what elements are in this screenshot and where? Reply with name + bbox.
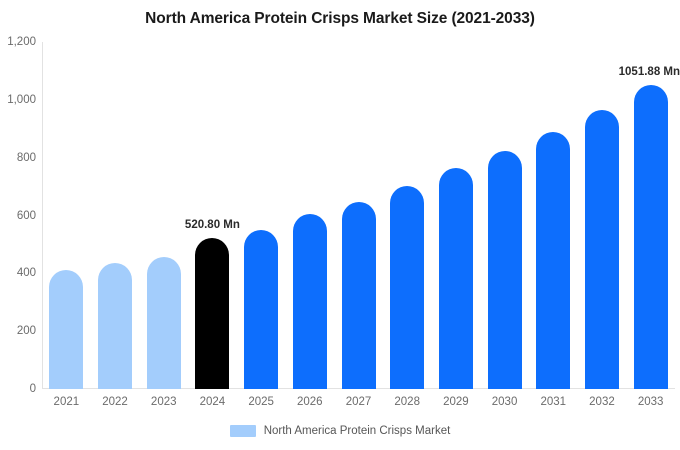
data-label-2024: 520.80 Mn xyxy=(185,219,240,231)
y-axis-tick-label: 200 xyxy=(17,325,36,337)
x-axis-tick-label: 2032 xyxy=(589,396,615,408)
y-axis-tick-label: 0 xyxy=(30,383,36,395)
chart-container: North America Protein Crisps Market Size… xyxy=(0,0,680,450)
chart-legend: North America Protein Crisps Market xyxy=(0,425,680,437)
bar-series: 520.80 Mn1051.88 Mn xyxy=(42,42,675,389)
y-axis-tick-label: 400 xyxy=(17,267,36,279)
bar-2028[interactable] xyxy=(390,186,424,389)
bar-2021[interactable] xyxy=(49,270,83,389)
x-axis-tick-label: 2033 xyxy=(638,396,664,408)
legend-label: North America Protein Crisps Market xyxy=(264,425,451,437)
legend-item[interactable]: North America Protein Crisps Market xyxy=(230,425,451,437)
bar-2031[interactable] xyxy=(536,132,570,389)
x-axis-tick-label: 2023 xyxy=(151,396,177,408)
bar-2032[interactable] xyxy=(585,110,619,389)
x-axis-tick-label: 2027 xyxy=(346,396,372,408)
x-axis-tick-label: 2021 xyxy=(54,396,80,408)
y-axis-tick-label: 1,200 xyxy=(7,36,36,48)
bar-2026[interactable] xyxy=(293,214,327,389)
y-axis-tick-labels: 02004006008001,0001,200 xyxy=(0,42,36,389)
bar-2029[interactable] xyxy=(439,168,473,389)
bar-2027[interactable] xyxy=(342,202,376,389)
bar-2024[interactable] xyxy=(195,238,229,389)
bar-2022[interactable] xyxy=(98,263,132,389)
x-axis-tick-label: 2031 xyxy=(540,396,566,408)
bar-2033[interactable] xyxy=(634,85,668,389)
x-axis-tick-label: 2028 xyxy=(394,396,420,408)
x-axis-tick-label: 2026 xyxy=(297,396,323,408)
legend-swatch-icon xyxy=(230,425,256,437)
x-axis-tick-label: 2024 xyxy=(200,396,226,408)
x-axis-tick-label: 2029 xyxy=(443,396,469,408)
y-axis-tick-label: 600 xyxy=(17,210,36,222)
bar-2025[interactable] xyxy=(244,230,278,389)
chart-title: North America Protein Crisps Market Size… xyxy=(0,10,680,28)
y-axis-tick-label: 800 xyxy=(17,152,36,164)
x-axis-tick-label: 2025 xyxy=(248,396,274,408)
x-axis-tick-label: 2022 xyxy=(102,396,128,408)
y-axis-tick-label: 1,000 xyxy=(7,94,36,106)
bar-2023[interactable] xyxy=(147,257,181,389)
bar-2030[interactable] xyxy=(488,151,522,389)
x-axis-tick-label: 2030 xyxy=(492,396,518,408)
x-axis-tick-labels: 2021202220232024202520262027202820292030… xyxy=(42,396,675,412)
data-label-2033: 1051.88 Mn xyxy=(619,66,680,78)
